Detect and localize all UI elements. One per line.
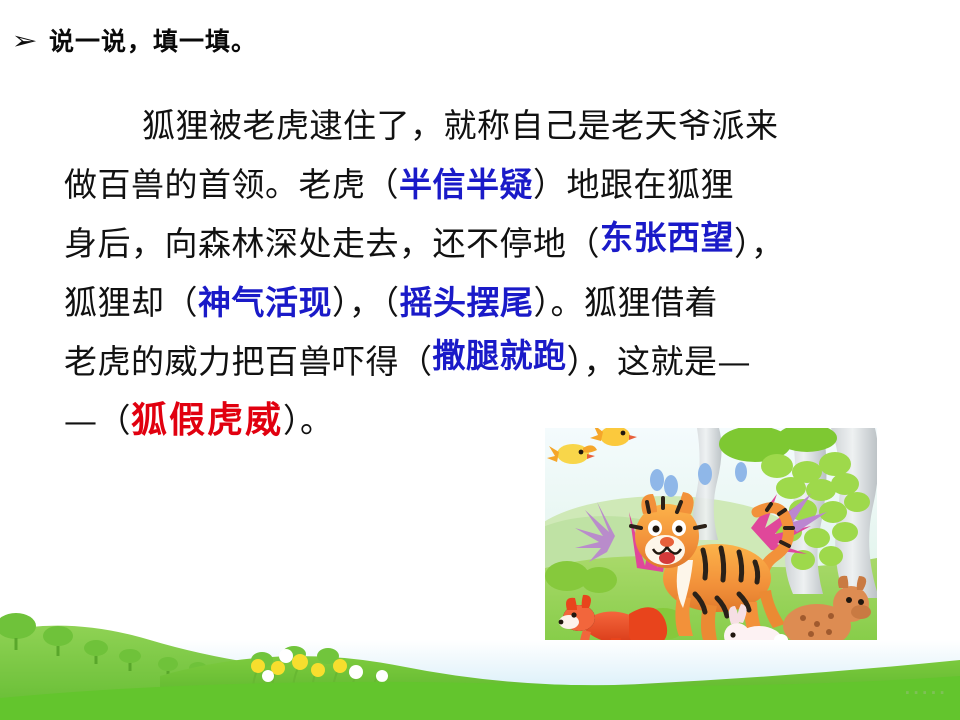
paragraph-text: （ [165,283,199,322]
paragraph-line: 做百兽的首领。老虎（半信半疑）地跟在狐狸 [64,155,894,214]
slide-canvas: ➢ 说一说，填一填。 狐狸被老虎逮住了，就称自己是老天爷派来做百兽的首领。老虎（… [0,0,960,720]
paragraph-line: 老虎的威力把百兽吓得（撒腿就跑），这就是— [64,332,894,391]
paragraph-text: 狐狸被老虎逮住了，就称自己是老天爷派来 [142,106,779,145]
paragraph-line: 身后，向森林深处走去，还不停地（东张西望）， [64,214,894,273]
answer-blank-text[interactable]: 撒腿就跑 [433,326,567,385]
paragraph-text: ） [283,401,300,440]
illustration-artwork [545,428,877,668]
watermark-text: ····· [905,684,949,702]
paragraph-text: （ [366,165,400,204]
paragraph-text: ， [751,224,785,263]
paragraph-text: 身后，向森林深处走去，还不停地 [64,224,567,263]
heading-row: ➢ 说一说，填一填。 [14,22,257,58]
paragraph-text: ） [332,283,349,322]
paragraph-text: 。老虎 [265,165,366,204]
paragraph-line: 狐狸却（神气活现），（摇头摆尾）。狐狸借着 [64,273,894,332]
page-title: 说一说，填一填。 [49,22,257,58]
paragraph-text: 。 [300,401,334,440]
paragraph-line: 狐狸被老虎逮住了，就称自己是老天爷派来 [64,96,894,155]
paragraph-text: （ [98,401,132,440]
paragraph-text: ，这就是— [584,342,752,381]
paragraph-text: ） [567,342,584,381]
paragraph-text: 地跟在狐狸 [567,165,735,204]
answer-blank-text[interactable]: 摇头摆尾 [400,283,534,322]
answer-blank-text[interactable]: 神气活现 [198,283,332,322]
answer-blank-text[interactable]: 东张西望 [600,208,734,267]
answer-blank-text[interactable]: 半信半疑 [399,165,533,204]
tiger-fox-forest-illustration [545,428,877,668]
paragraph-text: 。狐狸借着 [551,283,719,322]
paragraph-text: 狐狸却 [64,283,165,322]
arrow-bullet-icon: ➢ [11,28,37,53]
paragraph-text: ） [534,283,551,322]
paragraph-text: 老虎的威力把百兽吓得 [64,342,399,381]
paragraph-text: ） [533,165,567,204]
answer-blank-text[interactable]: 狐假虎威 [131,399,283,441]
paragraph-text: （ [567,224,601,263]
paragraph-text: （ [383,283,400,322]
paragraph-text: — [64,401,98,440]
fill-in-blank-paragraph: 狐狸被老虎逮住了，就称自己是老天爷派来做百兽的首领。老虎（半信半疑）地跟在狐狸身… [64,96,894,450]
paragraph-text: ， [349,283,383,322]
paragraph-text: ） [734,224,751,263]
paragraph-text: 做百兽的首领 [64,165,265,204]
paragraph-text: （ [399,342,433,381]
